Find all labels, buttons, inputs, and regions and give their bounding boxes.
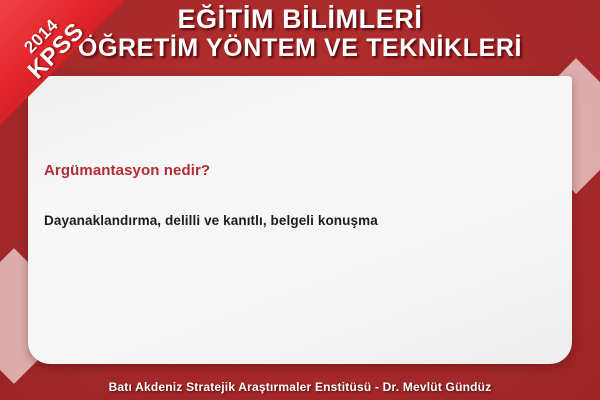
corner-ribbon: 2014 KPSS: [0, 0, 125, 125]
answer-text: Dayanaklandırma, delilli ve kanıtlı, bel…: [44, 213, 572, 228]
presentation-slide: 2014 KPSS EĞİTİM BİLİMLERİ ÖĞRETİM YÖNTE…: [0, 0, 600, 400]
slide-footer: Batı Akdeniz Stratejik Araştırmaler Enst…: [0, 380, 600, 394]
question-text: Argümantasyon nedir?: [44, 162, 572, 179]
footer-credit-text: Batı Akdeniz Stratejik Araştırmaler Enst…: [0, 380, 600, 394]
